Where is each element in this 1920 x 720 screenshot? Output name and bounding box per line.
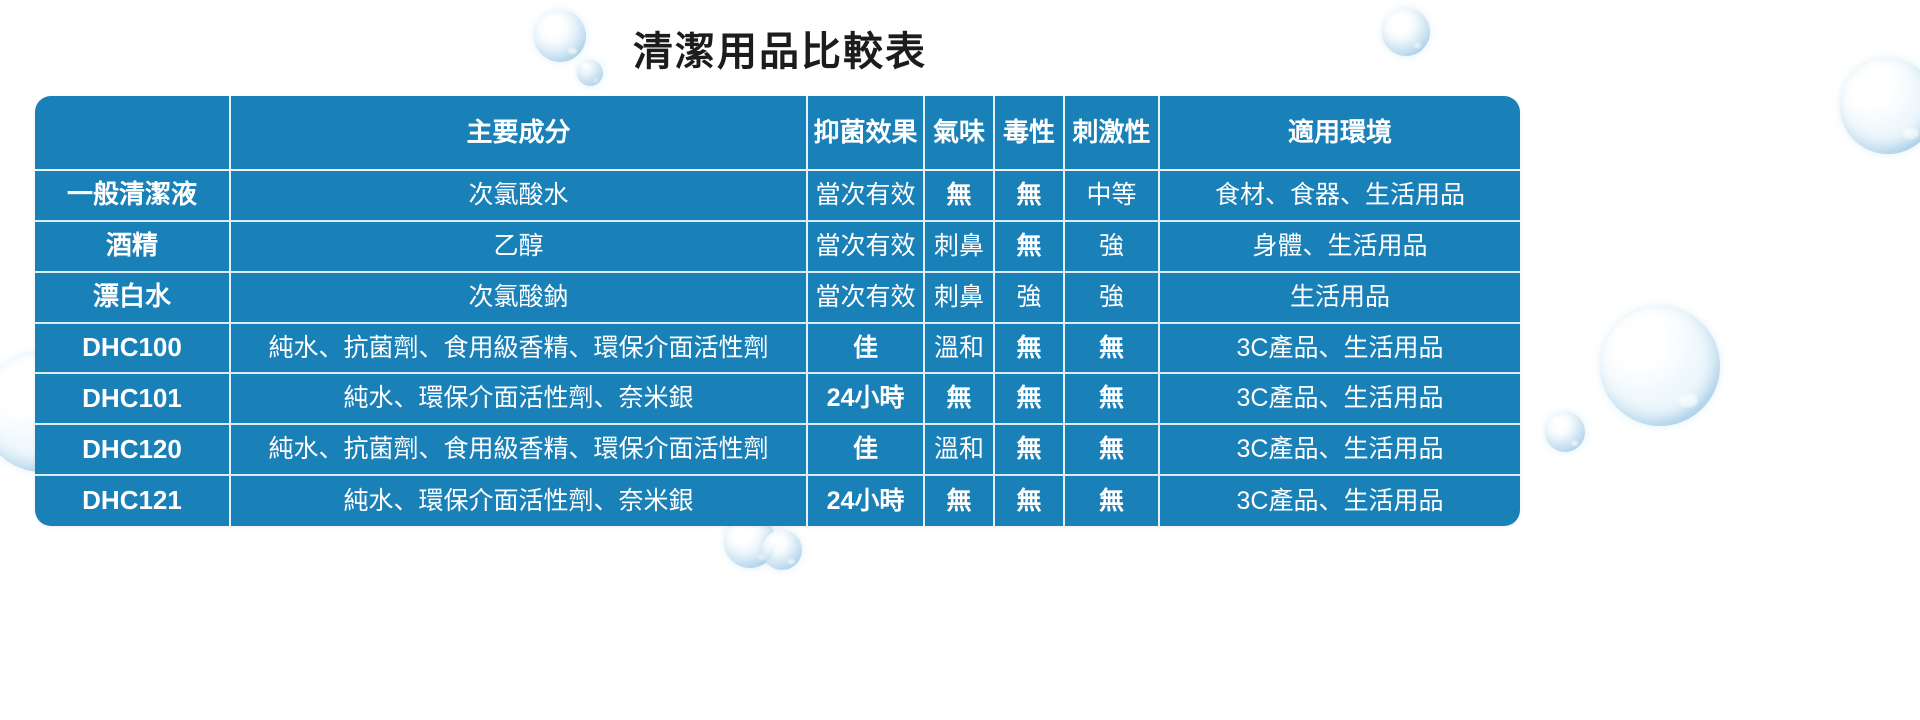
cell-antibacterial: 當次有效 [807, 221, 924, 272]
table-row: DHC101純水、環保介面活性劑、奈米銀24小時無無無3C產品、生活用品 [35, 373, 1520, 424]
cell-smell: 刺鼻 [924, 272, 994, 323]
cell-name: DHC121 [35, 475, 230, 526]
table-row: DHC121純水、環保介面活性劑、奈米銀24小時無無無3C產品、生活用品 [35, 475, 1520, 526]
cell-irritation: 中等 [1064, 170, 1159, 221]
comparison-table-container: 主要成分 抑菌效果 氣味 毒性 刺激性 適用環境 一般清潔液次氯酸水當次有效無無… [35, 96, 1520, 526]
cell-ingredient: 純水、環保介面活性劑、奈米銀 [230, 475, 807, 526]
column-header-toxicity: 毒性 [994, 96, 1064, 170]
cell-smell: 無 [924, 475, 994, 526]
cell-environment: 3C產品、生活用品 [1159, 323, 1520, 374]
cell-smell: 無 [924, 373, 994, 424]
cell-antibacterial: 佳 [807, 323, 924, 374]
table-row: DHC100純水、抗菌劑、食用級香精、環保介面活性劑佳溫和無無3C產品、生活用品 [35, 323, 1520, 374]
cell-smell: 刺鼻 [924, 221, 994, 272]
cell-toxicity: 無 [994, 475, 1064, 526]
cell-toxicity: 無 [994, 373, 1064, 424]
cell-environment: 3C產品、生活用品 [1159, 424, 1520, 475]
cell-toxicity: 無 [994, 221, 1064, 272]
cell-irritation: 無 [1064, 424, 1159, 475]
cell-ingredient: 純水、抗菌劑、食用級香精、環保介面活性劑 [230, 424, 807, 475]
bubble-right-small-icon [1545, 412, 1585, 452]
cell-irritation: 無 [1064, 475, 1159, 526]
column-header-environment: 適用環境 [1159, 96, 1520, 170]
cell-name: DHC120 [35, 424, 230, 475]
column-header-irritation: 刺激性 [1064, 96, 1159, 170]
table-row: 漂白水次氯酸鈉當次有效刺鼻強強生活用品 [35, 272, 1520, 323]
cell-ingredient: 次氯酸鈉 [230, 272, 807, 323]
table-header-row: 主要成分 抑菌效果 氣味 毒性 刺激性 適用環境 [35, 96, 1520, 170]
cell-smell: 溫和 [924, 424, 994, 475]
column-header-product [35, 96, 230, 170]
table-row: 酒精乙醇當次有效刺鼻無強身體、生活用品 [35, 221, 1520, 272]
cell-ingredient: 純水、抗菌劑、食用級香精、環保介面活性劑 [230, 323, 807, 374]
cell-ingredient: 純水、環保介面活性劑、奈米銀 [230, 373, 807, 424]
cell-antibacterial: 佳 [807, 424, 924, 475]
cell-irritation: 強 [1064, 221, 1159, 272]
cell-ingredient: 次氯酸水 [230, 170, 807, 221]
page-root: 清潔用品比較表 主要成分 抑菌效果 氣味 毒性 刺激性 適用環境 一般清潔液次氯… [0, 0, 1920, 720]
cell-name: 一般清潔液 [35, 170, 230, 221]
cell-smell: 溫和 [924, 323, 994, 374]
table-body: 一般清潔液次氯酸水當次有效無無中等食材、食器、生活用品酒精乙醇當次有效刺鼻無強身… [35, 170, 1520, 526]
table-row: 一般清潔液次氯酸水當次有效無無中等食材、食器、生活用品 [35, 170, 1520, 221]
cell-name: DHC101 [35, 373, 230, 424]
cell-environment: 3C產品、生活用品 [1159, 475, 1520, 526]
cell-name: 漂白水 [35, 272, 230, 323]
cell-environment: 身體、生活用品 [1159, 221, 1520, 272]
cell-toxicity: 無 [994, 323, 1064, 374]
comparison-table: 主要成分 抑菌效果 氣味 毒性 刺激性 適用環境 一般清潔液次氯酸水當次有效無無… [35, 96, 1520, 526]
cell-antibacterial: 24小時 [807, 373, 924, 424]
cell-antibacterial: 24小時 [807, 475, 924, 526]
cell-irritation: 無 [1064, 373, 1159, 424]
column-header-smell: 氣味 [924, 96, 994, 170]
cell-environment: 食材、食器、生活用品 [1159, 170, 1520, 221]
cell-antibacterial: 當次有效 [807, 170, 924, 221]
cell-antibacterial: 當次有效 [807, 272, 924, 323]
bubble-right-mid-icon [1600, 306, 1720, 426]
cell-toxicity: 無 [994, 170, 1064, 221]
cell-ingredient: 乙醇 [230, 221, 807, 272]
cell-name: 酒精 [35, 221, 230, 272]
page-title: 清潔用品比較表 [0, 26, 1560, 78]
cell-name: DHC100 [35, 323, 230, 374]
cell-smell: 無 [924, 170, 994, 221]
column-header-ingredient: 主要成分 [230, 96, 807, 170]
table-row: DHC120純水、抗菌劑、食用級香精、環保介面活性劑佳溫和無無3C產品、生活用品 [35, 424, 1520, 475]
table-header: 主要成分 抑菌效果 氣味 毒性 刺激性 適用環境 [35, 96, 1520, 170]
bubble-bottom-b-icon [762, 530, 802, 570]
bubble-right-large-icon [1840, 58, 1920, 154]
cell-environment: 生活用品 [1159, 272, 1520, 323]
cell-toxicity: 無 [994, 424, 1064, 475]
column-header-antibacterial: 抑菌效果 [807, 96, 924, 170]
cell-environment: 3C產品、生活用品 [1159, 373, 1520, 424]
cell-toxicity: 強 [994, 272, 1064, 323]
cell-irritation: 強 [1064, 272, 1159, 323]
cell-irritation: 無 [1064, 323, 1159, 374]
